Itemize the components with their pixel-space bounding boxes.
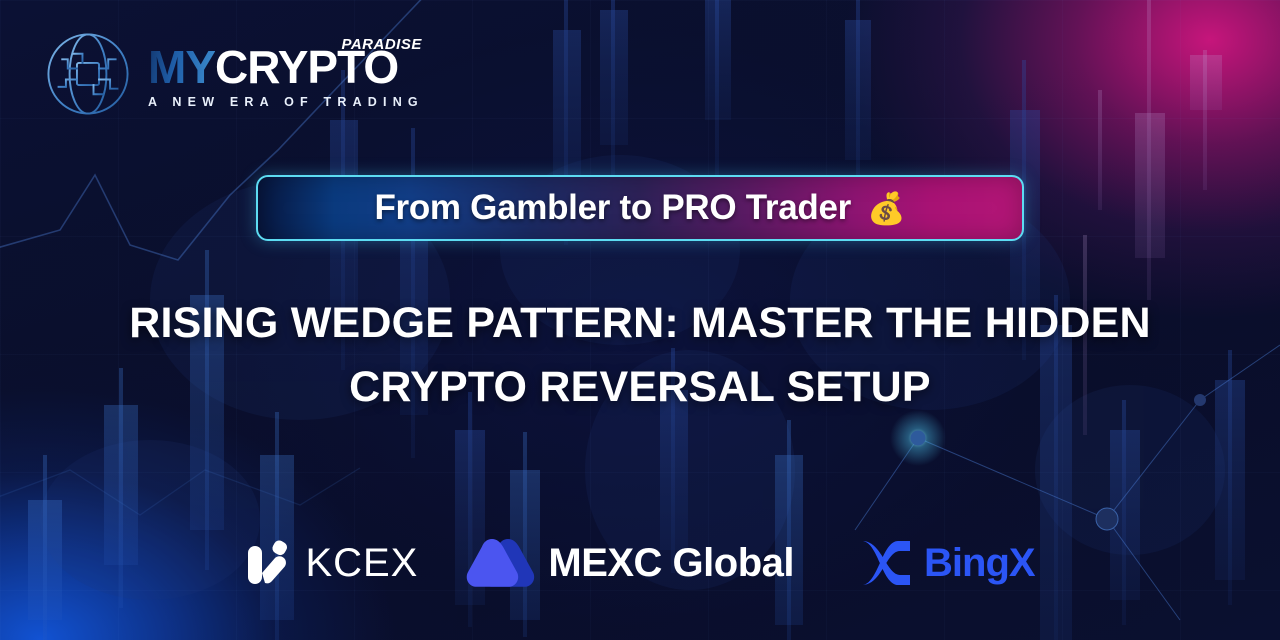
partner-kcex: KCEX bbox=[245, 538, 418, 588]
brand-tagline: A NEW ERA OF TRADING bbox=[148, 95, 424, 109]
brand-superscript: PARADISE bbox=[341, 36, 421, 53]
kcex-k-mark bbox=[245, 538, 293, 588]
partner-mexc: MEXC Global bbox=[464, 536, 794, 590]
partner-bingx: BingX bbox=[840, 536, 1035, 590]
headline-banner: From Gambler to PRO Trader 💰 bbox=[256, 175, 1024, 241]
partner-mexc-label: MEXC Global bbox=[548, 541, 794, 586]
partner-logos: KCEX MEXC Global BingX bbox=[0, 536, 1280, 590]
poster-canvas: PARADISE MYCRYPTO A NEW ERA OF TRADING F… bbox=[0, 0, 1280, 640]
globe-circuit-icon bbox=[42, 28, 134, 120]
brand-logo: PARADISE MYCRYPTO A NEW ERA OF TRADING bbox=[42, 28, 424, 120]
brand-my: MY bbox=[148, 41, 215, 93]
bingx-x-mark bbox=[840, 536, 912, 590]
page-title: RISING WEDGE PATTERN: MASTER THE HIDDEN … bbox=[0, 292, 1280, 419]
mexc-triangles-mark bbox=[464, 536, 536, 590]
partner-bingx-label: BingX bbox=[924, 541, 1035, 586]
money-bag-icon: 💰 bbox=[867, 193, 906, 224]
brand-wordmark: PARADISE MYCRYPTO A NEW ERA OF TRADING bbox=[148, 40, 424, 109]
banner-label: From Gambler to PRO Trader bbox=[374, 188, 850, 228]
partner-kcex-label: KCEX bbox=[305, 541, 418, 586]
